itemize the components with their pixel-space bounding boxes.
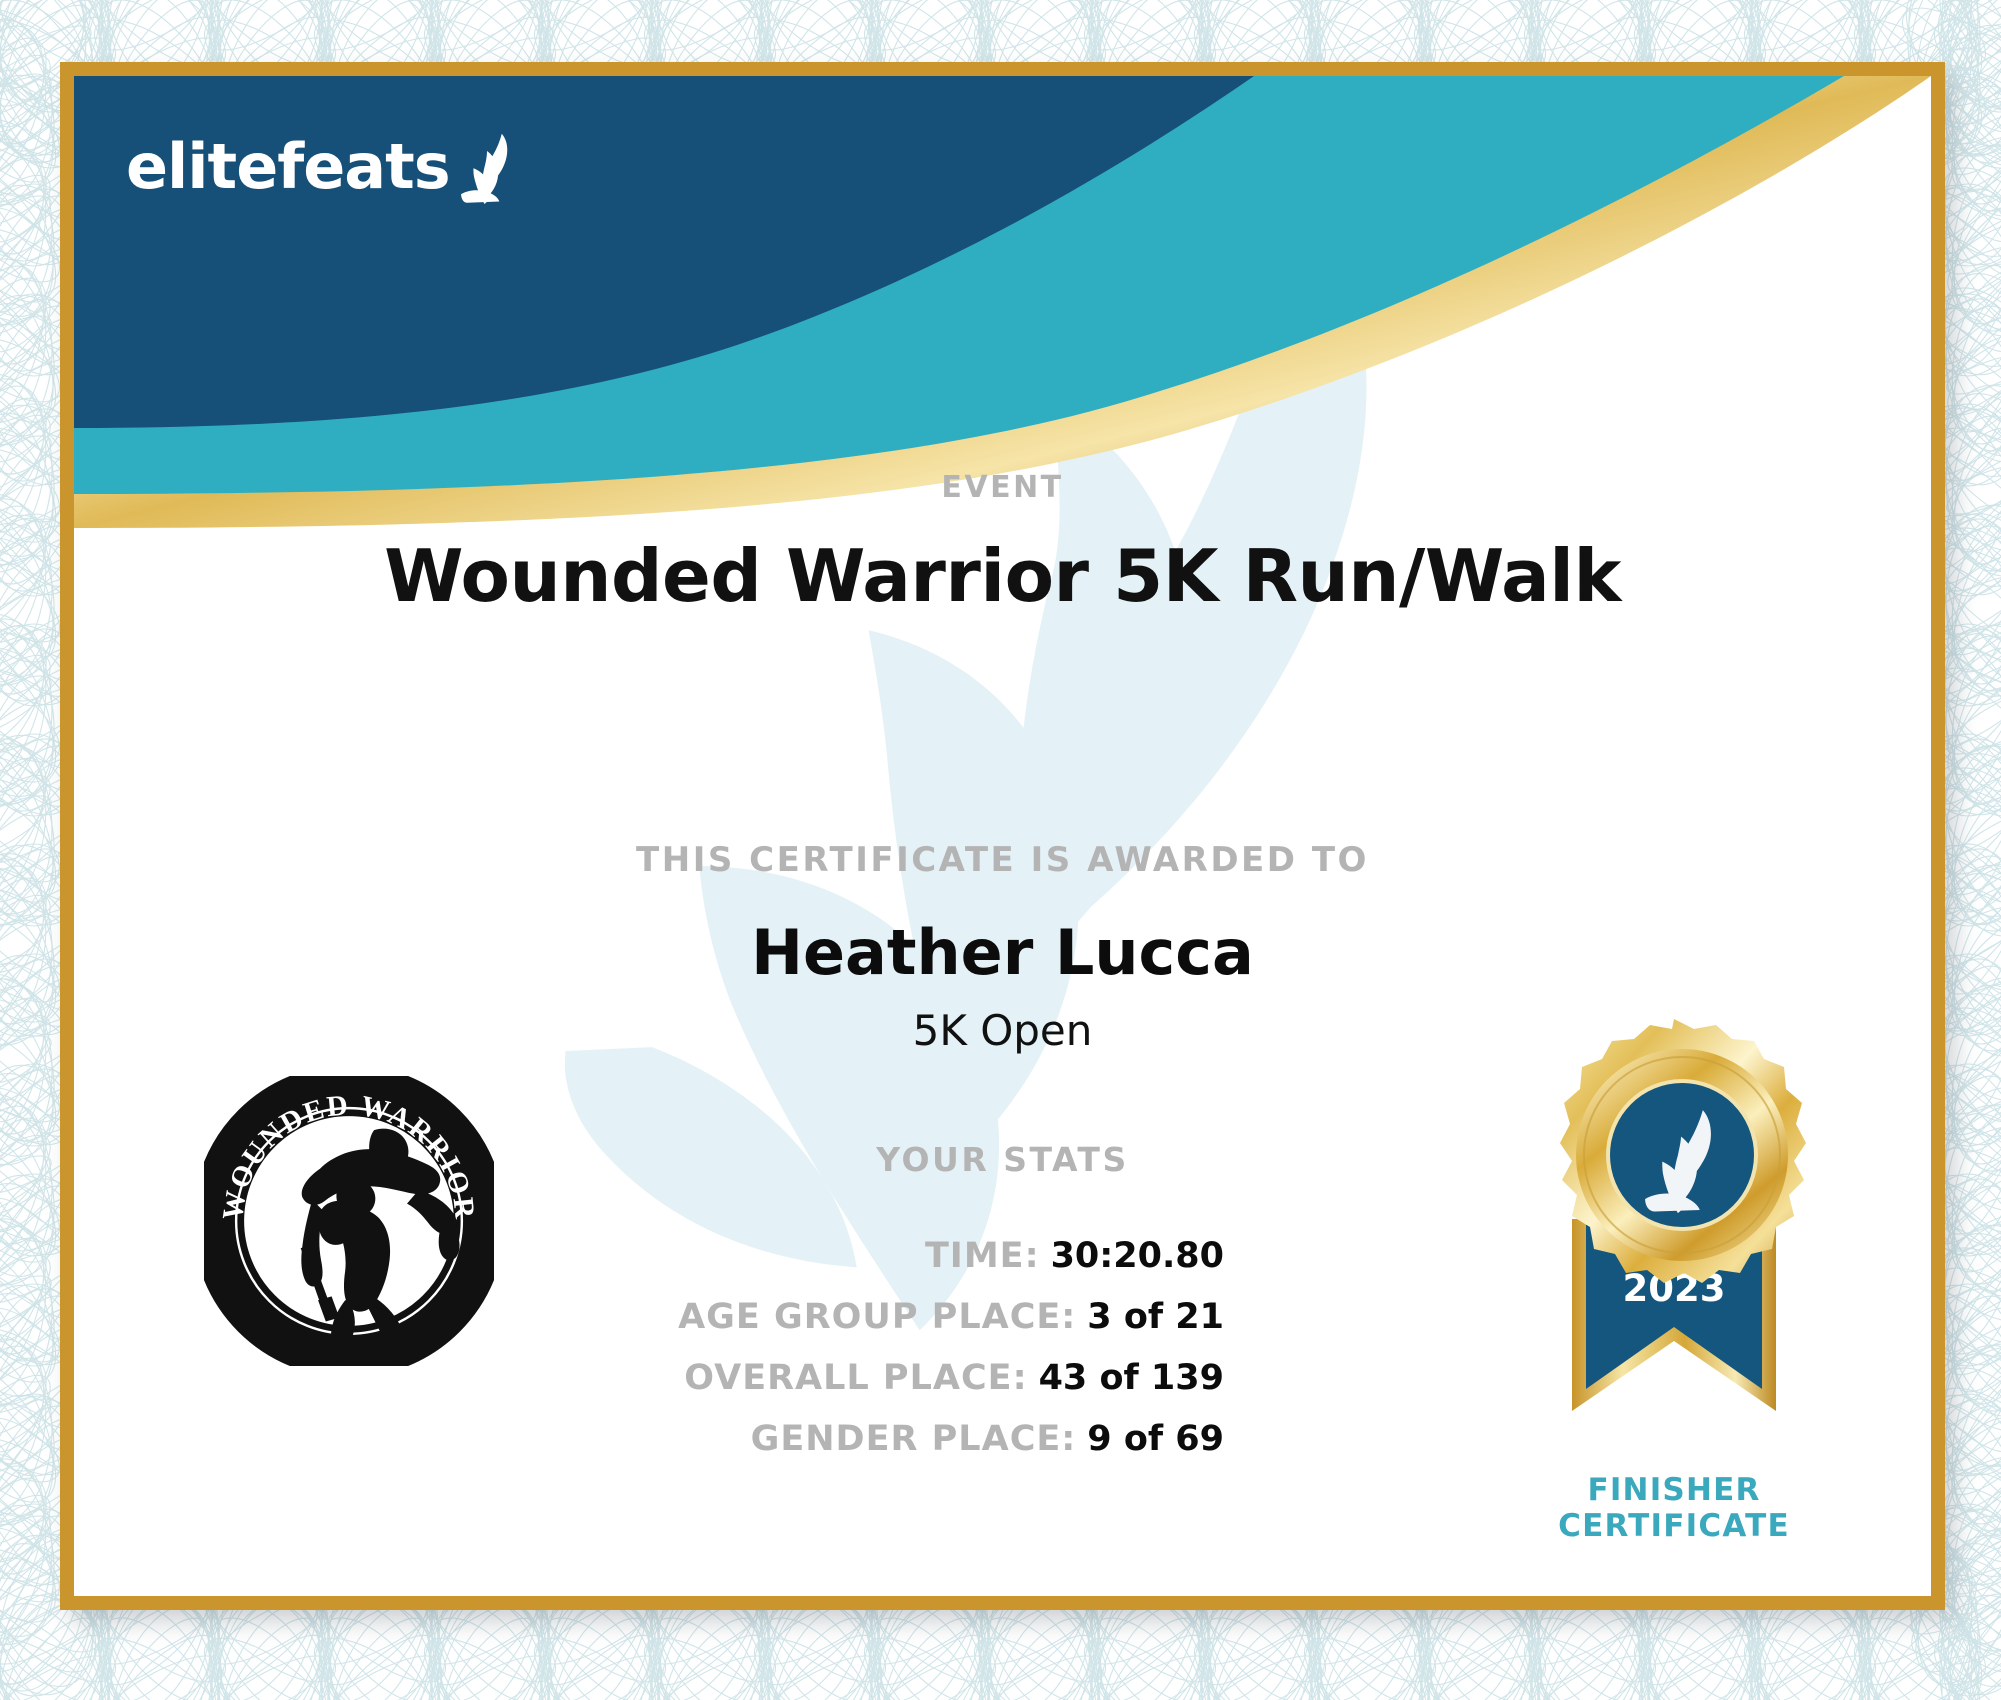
certificate-frame: elitefeats EVENT Wounded Warrior 5K Run/… [60, 62, 1945, 1610]
medal-caption-line1: FINISHER [1474, 1472, 1874, 1508]
recipient-name: Heather Lucca [74, 916, 1931, 989]
stat-value: 9 of 69 [1087, 1419, 1224, 1459]
stat-value: 30:20.80 [1051, 1236, 1224, 1276]
winged-foot-icon [454, 130, 520, 204]
medal-caption: FINISHER CERTIFICATE [1474, 1472, 1874, 1545]
stat-row: GENDER PLACE: 9 of 69 [74, 1419, 1224, 1459]
stat-value: 43 of 139 [1039, 1358, 1224, 1398]
brand-logo: elitefeats [126, 130, 520, 204]
medal-disc [1560, 1019, 1806, 1283]
finisher-medal: 2023 [1514, 1011, 1834, 1481]
stat-key: AGE GROUP PLACE: [678, 1297, 1076, 1337]
stat-key: OVERALL PLACE: [684, 1358, 1027, 1398]
awarded-to-label: THIS CERTIFICATE IS AWARDED TO [74, 840, 1931, 880]
brand-wordmark: elitefeats [126, 136, 450, 198]
wounded-warrior-project-logo: WOUNDED WARRIOR PROJECT [204, 1076, 494, 1366]
medal-caption-line2: CERTIFICATE [1474, 1508, 1874, 1544]
event-label: EVENT [74, 470, 1931, 505]
stat-key: GENDER PLACE: [751, 1419, 1077, 1459]
certificate-content: EVENT Wounded Warrior 5K Run/Walk THIS C… [74, 76, 1931, 1596]
event-title: Wounded Warrior 5K Run/Walk [74, 534, 1931, 618]
stat-value: 3 of 21 [1087, 1297, 1224, 1337]
stat-key: TIME: [925, 1236, 1040, 1276]
certificate-page: elitefeats EVENT Wounded Warrior 5K Run/… [0, 0, 2001, 1700]
